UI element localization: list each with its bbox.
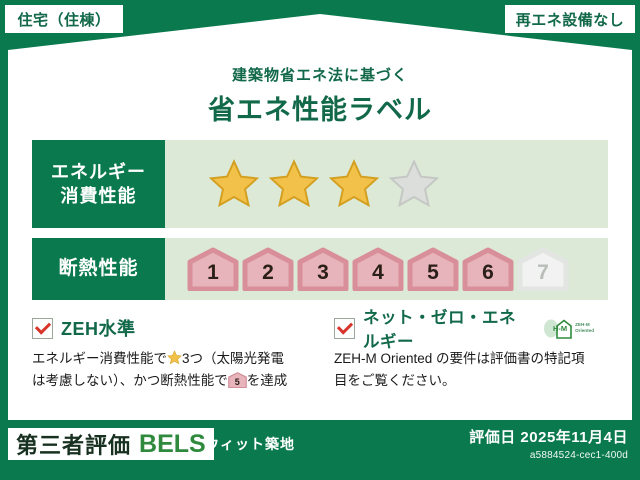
inline-badge-number: 5	[228, 372, 247, 388]
footer-meta: 評価日 2025年11月4日 a5884524-cec1-400d	[469, 426, 628, 461]
label-subtitle: 建築物省エネ法に基づく	[8, 64, 632, 85]
insulation-badge-number: 6	[482, 261, 494, 291]
energy-performance-heading: エネルギー 消費性能	[32, 140, 165, 228]
zeh-standard-callout: ZEH水準 エネルギー消費性能で3つ（太陽光発電 は考慮しない）、かつ断熱性能で…	[32, 314, 320, 392]
bels-badge: 第三者評価 BELS	[8, 428, 214, 460]
label-footer: 第三者評価 BELS ウィット築地 評価日 2025年11月4日 a588452…	[0, 424, 640, 480]
insulation-badge-active: 2	[242, 247, 294, 291]
page-title: 省エネ性能ラベル	[8, 88, 632, 127]
net-zero-energy-title: ネット・ゼロ・エネルギー	[363, 304, 531, 352]
zeh-body-part3: は考慮しない）、かつ断熱性能で	[32, 373, 228, 388]
star-filled-icon	[327, 158, 381, 210]
insulation-badge-number: 1	[207, 261, 219, 291]
insulation-badge-active: 3	[297, 247, 349, 291]
zeh-m-logo-caption: ZEH-M Oriented	[575, 322, 594, 333]
insulation-performance-heading: 断熱性能	[32, 238, 165, 300]
zeh-standard-body: エネルギー消費性能で3つ（太陽光発電 は考慮しない）、かつ断熱性能で5を達成	[32, 348, 306, 392]
star-rating	[165, 158, 441, 210]
star-filled-icon	[267, 158, 321, 210]
label-house-panel: 建築物省エネ法に基づく 省エネ性能ラベル エネルギー 消費性能 断熱性能 123…	[8, 14, 632, 420]
zeh-m-caption-line1: ZEH-M	[575, 322, 590, 327]
insulation-badge-number: 2	[262, 261, 274, 291]
bels-logo-text: BELS	[139, 430, 206, 459]
insulation-badge-number: 7	[537, 261, 549, 291]
zeh-body-part2: 3つ（太陽光発電	[182, 351, 284, 366]
insulation-badge-number: 4	[372, 261, 384, 291]
zeh-body-part4: を達成	[247, 373, 288, 388]
energy-heading-line1: エネルギー	[51, 160, 146, 184]
insulation-badge-inactive: 7	[517, 247, 569, 291]
inline-star-icon	[167, 350, 182, 365]
energy-performance-value	[165, 140, 608, 228]
insulation-performance-value: 1234567	[165, 238, 608, 300]
insulation-badge-active: 4	[352, 247, 404, 291]
insulation-heading-label: 断熱性能	[58, 256, 138, 282]
zeh-body-part1: エネルギー消費性能で	[32, 351, 167, 366]
checkbox-checked-icon-2	[334, 318, 355, 339]
energy-heading-line2: 消費性能	[61, 184, 137, 208]
insulation-grade-scale: 1234567	[165, 247, 569, 291]
insulation-badge-number: 3	[317, 261, 329, 291]
property-name: ウィット築地	[205, 428, 295, 460]
net-zero-energy-body: ZEH-M Oriented の要件は評価書の特記項目をご覧ください。	[334, 348, 594, 392]
evaluation-date: 評価日 2025年11月4日	[469, 426, 628, 447]
renewable-energy-tag: 再エネ設備なし	[505, 5, 635, 33]
zeh-m-logo-icon: H-M ZEH-M Oriented	[543, 316, 594, 341]
insulation-performance-row: 断熱性能 1234567	[32, 238, 608, 300]
zeh-standard-title: ZEH水準	[61, 315, 136, 341]
star-filled-icon	[207, 158, 261, 210]
energy-performance-row: エネルギー 消費性能	[32, 140, 608, 228]
net-zero-energy-callout: ネット・ゼロ・エネルギー H-M ZEH-M Oriented	[320, 314, 608, 392]
building-type-tag: 住宅（住棟）	[5, 5, 123, 33]
star-empty-icon	[387, 158, 441, 210]
svg-text:H-M: H-M	[553, 324, 567, 333]
insulation-badge-active: 5	[407, 247, 459, 291]
energy-performance-label: 住宅（住棟） 再エネ設備なし 建築物省エネ法に基づく 省エネ性能ラベル エネルギ…	[0, 0, 640, 480]
insulation-badge-active: 1	[187, 247, 239, 291]
evaluation-code: a5884524-cec1-400d	[469, 450, 628, 461]
checkbox-checked-icon	[32, 318, 53, 339]
insulation-badge-active: 6	[462, 247, 514, 291]
callouts-section: ZEH水準 エネルギー消費性能で3つ（太陽光発電 は考慮しない）、かつ断熱性能で…	[32, 314, 608, 392]
insulation-badge-number: 5	[427, 261, 439, 291]
bels-japanese-label: 第三者評価	[16, 428, 131, 460]
zeh-m-caption-line2: Oriented	[575, 328, 594, 333]
inline-insulation-badge-icon: 5	[228, 372, 247, 388]
